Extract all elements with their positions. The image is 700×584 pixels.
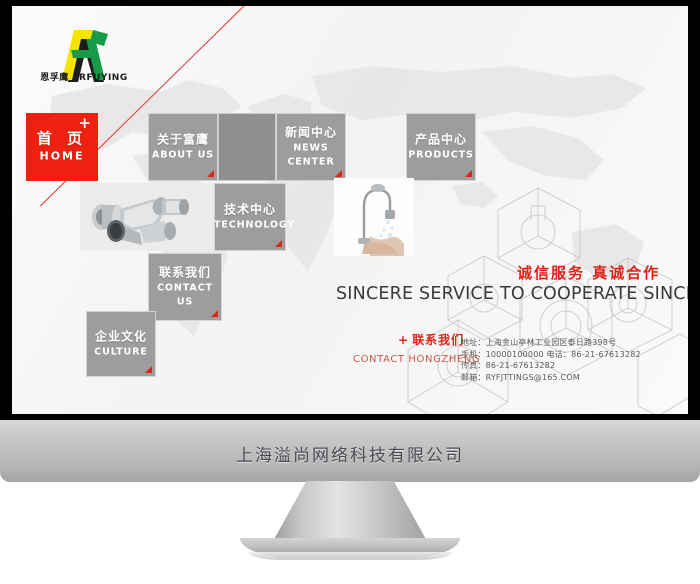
contact-mobile-phone: 手机：10000100000 电话：86-21-67613282 — [461, 349, 661, 361]
corner-triangle-icon — [465, 170, 472, 177]
nav-tile-spacer — [218, 113, 276, 181]
nav-tile-technology[interactable]: 技术中心 TECHNOLOGY — [214, 183, 286, 251]
contact-heading: +联系我们 — [398, 331, 464, 348]
contact-address: 地址：上海金山亭林工业园区泰日路398号 — [461, 337, 661, 349]
contact-fax: 传真：86-21-67613282 — [461, 360, 661, 372]
slogan-chinese: 诚信服务 真诚合作 — [517, 262, 660, 283]
nav-tile-news-center[interactable]: 新闻中心 NEWS CENTER — [276, 113, 346, 181]
pipe-fittings-image — [80, 183, 214, 251]
nav-label-cn: 首 页 — [26, 131, 98, 147]
nav-label-en: HOME — [26, 150, 98, 164]
website-screen: 恩孚鹰 ERFUYING + 首 页 HOME 关于富鹰 ABOUT US — [12, 6, 688, 414]
corner-triangle-icon — [335, 170, 342, 177]
contact-heading-cn: 联系我们 — [412, 333, 464, 347]
nav-label-en: TECHNOLOGY — [214, 219, 286, 233]
nav-tile-about-us[interactable]: 关于富鹰 ABOUT US — [148, 113, 218, 181]
nav-label-en: NEWS CENTER — [276, 142, 346, 170]
nav-tile-contact-us[interactable]: 联系我们 CONTACT US — [148, 253, 222, 321]
slogan-english: SINCERE SERVICE TO COOPERATE SINCERELY — [336, 284, 688, 304]
nav-tile-products[interactable]: 产品中心 PRODUCTS — [406, 113, 476, 181]
corner-triangle-icon — [207, 170, 214, 177]
product-photo-faucet[interactable] — [334, 178, 414, 256]
nav-label-cn: 关于富鹰 — [148, 132, 218, 148]
monitor-footer-company: 上海溢尚网络科技有限公司 — [0, 441, 700, 466]
nav-label-cn: 产品中心 — [406, 132, 476, 148]
nav-tile-home[interactable]: + 首 页 HOME — [26, 113, 98, 181]
nav-label-cn: 新闻中心 — [276, 125, 346, 141]
plus-icon: + — [398, 333, 409, 347]
screenshot-stage: 恩孚鹰 ERFUYING + 首 页 HOME 关于富鹰 ABOUT US — [0, 0, 700, 584]
monitor-bezel: 恩孚鹰 ERFUYING + 首 页 HOME 关于富鹰 ABOUT US — [0, 0, 700, 420]
corner-triangle-icon — [145, 366, 152, 373]
faucet-image — [334, 178, 414, 256]
nav-label-cn: 联系我们 — [148, 265, 222, 281]
contact-details: 地址：上海金山亭林工业园区泰日路398号 手机：10000100000 电话：8… — [461, 337, 661, 383]
corner-triangle-icon — [211, 310, 218, 317]
nav-label-cn: 技术中心 — [214, 202, 286, 218]
nav-label-en: CULTURE — [86, 346, 156, 360]
nav-tile-culture[interactable]: 企业文化 CULTURE — [86, 311, 156, 377]
corner-triangle-icon — [275, 240, 282, 247]
nav-label-cn: 企业文化 — [86, 329, 156, 345]
nav-label-en: PRODUCTS — [406, 149, 476, 163]
nav-label-en: CONTACT US — [148, 282, 222, 310]
monitor-stand-neck — [272, 481, 428, 543]
product-photo-fittings[interactable] — [80, 183, 214, 251]
logo-wordmark: 恩孚鹰 ERFUYING — [38, 70, 130, 83]
contact-email: 邮箱：RYFJTTINGS@165.COM — [461, 372, 661, 384]
nav-label-en: ABOUT US — [148, 149, 218, 163]
monitor-stand-base-shine — [248, 552, 452, 560]
